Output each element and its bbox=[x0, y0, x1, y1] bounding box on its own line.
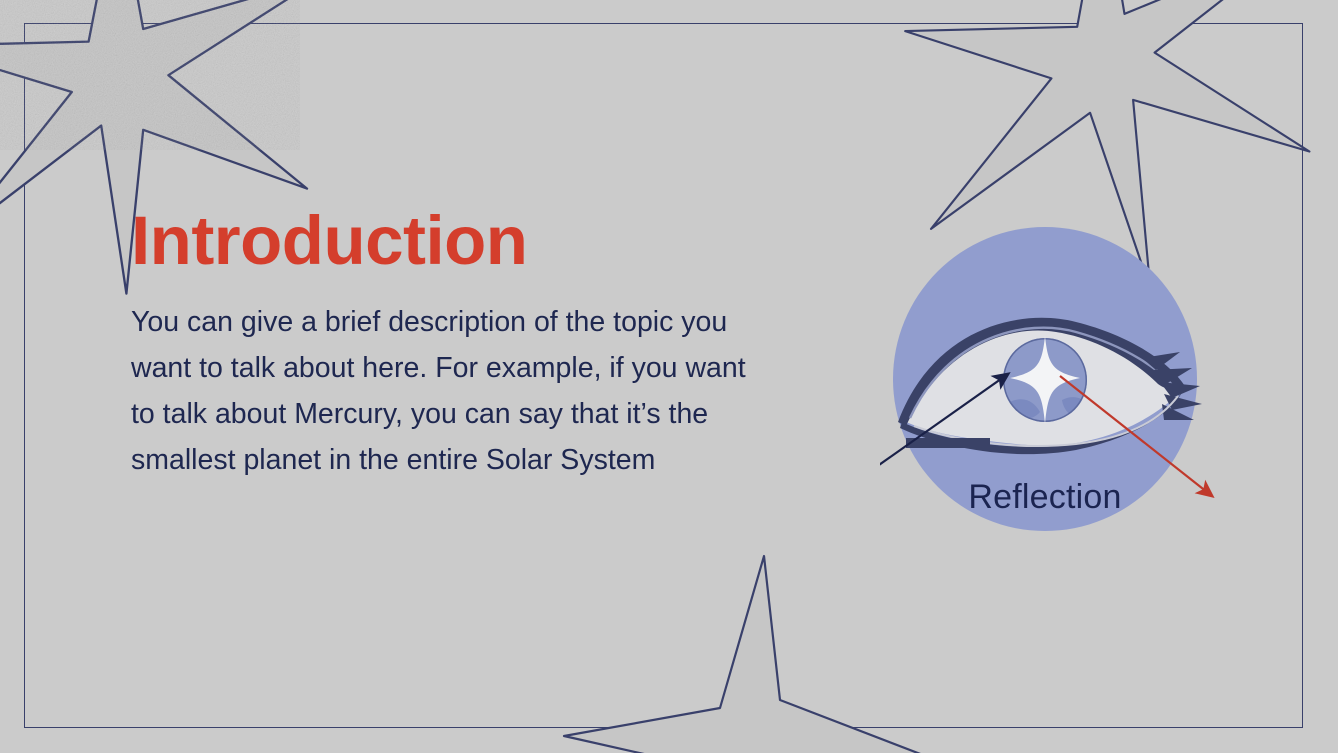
page-title: Introduction bbox=[131, 206, 771, 275]
figure-caption-reflection: Reflection bbox=[893, 478, 1197, 517]
body-paragraph: You can give a brief description of the … bbox=[131, 299, 751, 483]
presentation-slide: Introduction You can give a brief descri… bbox=[0, 0, 1338, 753]
text-content-block: Introduction You can give a brief descri… bbox=[131, 206, 771, 483]
sparkle-bottom-icon bbox=[556, 552, 956, 753]
